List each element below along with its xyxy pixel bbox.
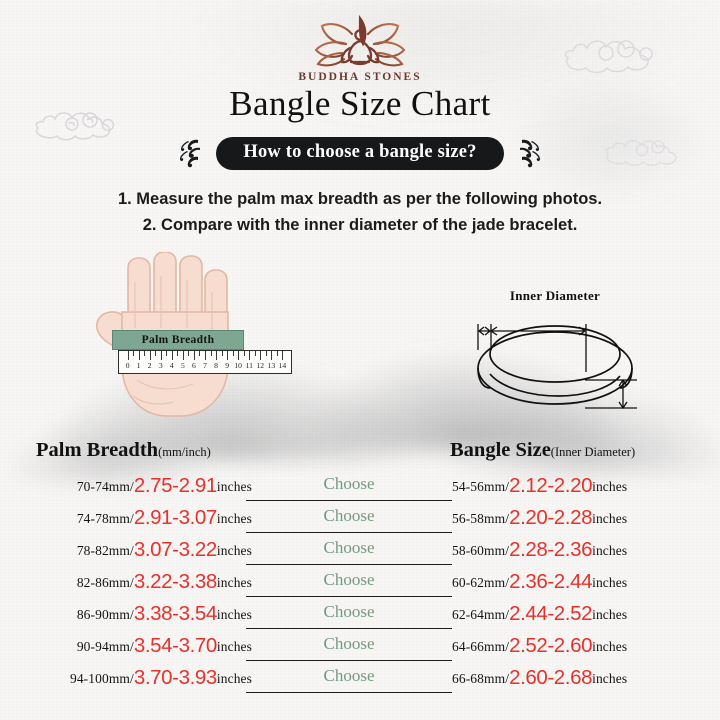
bangle-size-cell: 64-66mm/2.52-2.60inches xyxy=(452,634,627,658)
palm-mm-value: 90-94mm/ xyxy=(77,639,134,654)
choose-size-link[interactable]: Choose xyxy=(246,539,452,565)
illustration-band: Palm Breadth 01234567891011121314 Inner … xyxy=(0,252,720,424)
instruction-step-1: 1. Measure the palm max breadth as per t… xyxy=(0,186,720,212)
table-header-row: Palm Breadth(mm/inch) Bangle Size(Inner … xyxy=(0,428,720,462)
choose-label[interactable]: Choose xyxy=(246,602,452,622)
ruler-tick xyxy=(139,351,140,360)
palm-header-unit: (mm/inch) xyxy=(158,445,211,459)
ruler-tick-label: 1 xyxy=(137,361,141,370)
bangle-inch-value: 2.12-2.20 xyxy=(509,474,592,497)
ruler-tick xyxy=(260,351,261,360)
flourish-ornament-icon xyxy=(176,136,206,170)
ruler-measurement-group: Palm Breadth 01234567891011121314 xyxy=(112,330,292,370)
ruler-tick-minor xyxy=(199,351,200,356)
ruler-tick-label: 2 xyxy=(148,361,152,370)
bangle-inch-value: 2.44-2.52 xyxy=(509,602,592,625)
palm-breadth-cell: 82-86mm/3.22-3.38inches xyxy=(77,570,252,594)
ruler-tick-label: 0 xyxy=(126,361,130,370)
choose-label[interactable]: Choose xyxy=(246,538,452,558)
ruler-tick-minor xyxy=(144,351,145,356)
bangle-size-cell: 56-58mm/2.20-2.28inches xyxy=(452,506,627,530)
ruler-tick xyxy=(194,351,195,360)
palm-breadth-cell: 86-90mm/3.38-3.54inches xyxy=(77,602,252,626)
palm-inch-value: 2.75-2.91 xyxy=(134,474,217,497)
palm-mm-value: 70-74mm/ xyxy=(77,479,134,494)
ruler-tick-label: 7 xyxy=(203,361,207,370)
ruler-tick xyxy=(205,351,206,360)
choose-underline xyxy=(246,692,452,693)
choose-size-link[interactable]: Choose xyxy=(246,667,452,693)
ruler-tick-minor xyxy=(133,351,134,356)
bangle-inch-unit: inches xyxy=(592,671,627,686)
ruler-numbers: 01234567891011121314 xyxy=(119,360,291,374)
bangle-size-cell: 60-62mm/2.36-2.44inches xyxy=(452,570,627,594)
choose-underline xyxy=(246,532,452,533)
ruler-tick-minor xyxy=(155,351,156,356)
ruler-tick-minor xyxy=(188,351,189,356)
palm-inch-value: 3.22-3.38 xyxy=(134,570,217,593)
bangle-header-unit: (Inner Diameter) xyxy=(551,445,635,459)
palm-breadth-cell: 74-78mm/2.91-3.07inches xyxy=(77,506,252,530)
ruler-tick-minor xyxy=(177,351,178,356)
bangle-header-text: Bangle Size xyxy=(450,439,551,461)
bangle-inch-value: 2.36-2.44 xyxy=(509,570,592,593)
ruler-tick-label: 8 xyxy=(214,361,218,370)
table-row: 70-74mm/2.75-2.91inchesChoose54-56mm/2.1… xyxy=(0,472,720,504)
subtitle-pill: How to choose a bangle size? xyxy=(216,137,503,170)
table-row: 94-100mm/3.70-3.93inchesChoose66-68mm/2.… xyxy=(0,664,720,696)
palm-header-text: Palm Breadth xyxy=(36,439,158,461)
bangle-size-cell: 66-68mm/2.60-2.68inches xyxy=(452,666,627,690)
palm-inch-value: 3.07-3.22 xyxy=(134,538,217,561)
ruler-tick xyxy=(227,351,228,360)
inner-diameter-label: Inner Diameter xyxy=(455,288,655,304)
page-title: Bangle Size Chart xyxy=(0,84,720,124)
bangle-inch-value: 2.52-2.60 xyxy=(509,634,592,657)
ruler-tick-label: 9 xyxy=(225,361,229,370)
palm-breadth-cell: 70-74mm/2.75-2.91inches xyxy=(77,474,252,498)
palm-breadth-label: Palm Breadth xyxy=(142,334,215,346)
palm-breadth-cell: 94-100mm/3.70-3.93inches xyxy=(70,666,252,690)
choose-size-link[interactable]: Choose xyxy=(246,571,452,597)
ruler-icon: 01234567891011121314 xyxy=(118,350,292,374)
choose-label[interactable]: Choose xyxy=(246,634,452,654)
bangle-inch-unit: inches xyxy=(592,543,627,558)
choose-size-link[interactable]: Choose xyxy=(246,603,452,629)
bangle-inch-value: 2.20-2.28 xyxy=(509,506,592,529)
bangle-inch-value: 2.28-2.36 xyxy=(509,538,592,561)
ruler-tick xyxy=(238,351,239,360)
flourish-ornament-icon xyxy=(514,136,544,170)
ruler-tick xyxy=(216,351,217,360)
ruler-tick-minor xyxy=(211,351,212,356)
table-row: 74-78mm/2.91-3.07inchesChoose56-58mm/2.2… xyxy=(0,504,720,536)
table-row: 90-94mm/3.54-3.70inchesChoose64-66mm/2.5… xyxy=(0,632,720,664)
bangle-mm-value: 58-60mm/ xyxy=(452,543,509,558)
ruler-tick-minor xyxy=(255,351,256,356)
ruler-tick xyxy=(183,351,184,360)
ruler-tick-label: 5 xyxy=(181,361,185,370)
palm-mm-value: 86-90mm/ xyxy=(77,607,134,622)
ruler-tick xyxy=(271,351,272,360)
table-row: 82-86mm/3.22-3.38inchesChoose60-62mm/2.3… xyxy=(0,568,720,600)
ruler-tick-label: 14 xyxy=(279,361,287,370)
choose-size-link[interactable]: Choose xyxy=(246,635,452,661)
palm-mm-value: 74-78mm/ xyxy=(77,511,134,526)
ruler-tick xyxy=(249,351,250,360)
palm-breadth-cell: 78-82mm/3.07-3.22inches xyxy=(77,538,252,562)
choose-label[interactable]: Choose xyxy=(246,474,452,494)
column-header-bangle-size: Bangle Size(Inner Diameter) xyxy=(450,439,635,462)
ruler-tick xyxy=(150,351,151,360)
ruler-tick xyxy=(161,351,162,360)
choose-underline xyxy=(246,564,452,565)
ruler-tick-label: 10 xyxy=(234,361,242,370)
palm-mm-value: 82-86mm/ xyxy=(77,575,134,590)
table-row: 78-82mm/3.07-3.22inchesChoose58-60mm/2.2… xyxy=(0,536,720,568)
palm-mm-value: 78-82mm/ xyxy=(77,543,134,558)
ruler-tick-label: 4 xyxy=(170,361,174,370)
brand-wordmark: BUDDHA STONES xyxy=(0,71,720,83)
bangle-ring-icon xyxy=(455,306,655,416)
bangle-inch-unit: inches xyxy=(592,575,627,590)
bangle-mm-value: 66-68mm/ xyxy=(452,671,509,686)
subtitle-row: How to choose a bangle size? xyxy=(0,136,720,170)
ruler-tick-label: 6 xyxy=(192,361,196,370)
bangle-mm-value: 64-66mm/ xyxy=(452,639,509,654)
choose-underline xyxy=(246,500,452,501)
bangle-inch-unit: inches xyxy=(592,607,627,622)
instruction-step-2: 2. Compare with the inner diameter of th… xyxy=(0,212,720,238)
ruler-tick-label: 11 xyxy=(246,361,253,370)
ruler-tick xyxy=(128,351,129,360)
choose-label[interactable]: Choose xyxy=(246,666,452,686)
choose-size-link[interactable]: Choose xyxy=(246,475,452,501)
choose-underline xyxy=(246,628,452,629)
palm-mm-value: 94-100mm/ xyxy=(70,671,134,686)
ruler-tick-label: 13 xyxy=(268,361,276,370)
lotus-meditation-icon xyxy=(300,8,420,70)
ruler-ticks xyxy=(119,351,291,360)
palm-inch-value: 3.38-3.54 xyxy=(134,602,217,625)
ruler-tick xyxy=(172,351,173,360)
ruler-tick-minor xyxy=(233,351,234,356)
choose-underline xyxy=(246,596,452,597)
choose-label[interactable]: Choose xyxy=(246,506,452,526)
ruler-tick-minor xyxy=(277,351,278,356)
palm-inch-value: 3.70-3.93 xyxy=(134,666,217,689)
instructions-list: 1. Measure the palm max breadth as per t… xyxy=(0,186,720,238)
ruler-tick-minor xyxy=(166,351,167,356)
bangle-mm-value: 54-56mm/ xyxy=(452,479,509,494)
bangle-mm-value: 60-62mm/ xyxy=(452,575,509,590)
ruler-tick-minor xyxy=(244,351,245,356)
bangle-size-cell: 62-64mm/2.44-2.52inches xyxy=(452,602,627,626)
choose-label[interactable]: Choose xyxy=(246,570,452,590)
bangle-inch-unit: inches xyxy=(592,479,627,494)
palm-breadth-cell: 90-94mm/3.54-3.70inches xyxy=(77,634,252,658)
bangle-diagram: Inner Diameter xyxy=(455,288,655,416)
bangle-size-cell: 54-56mm/2.12-2.20inches xyxy=(452,474,627,498)
column-header-palm-breadth: Palm Breadth(mm/inch) xyxy=(36,439,211,462)
ruler-tick-minor xyxy=(222,351,223,356)
ruler-tick-minor xyxy=(266,351,267,356)
bangle-inch-value: 2.60-2.68 xyxy=(509,666,592,689)
choose-size-link[interactable]: Choose xyxy=(246,507,452,533)
palm-inch-value: 2.91-3.07 xyxy=(134,506,217,529)
ruler-tick-label: 3 xyxy=(159,361,163,370)
bangle-size-cell: 58-60mm/2.28-2.36inches xyxy=(452,538,627,562)
size-table: Palm Breadth(mm/inch) Bangle Size(Inner … xyxy=(0,428,720,696)
palm-breadth-band: Palm Breadth xyxy=(112,330,244,350)
bangle-mm-value: 62-64mm/ xyxy=(452,607,509,622)
choose-underline xyxy=(246,660,452,661)
table-row: 86-90mm/3.38-3.54inchesChoose62-64mm/2.4… xyxy=(0,600,720,632)
brand-logo: BUDDHA STONES xyxy=(0,8,720,83)
bangle-inch-unit: inches xyxy=(592,511,627,526)
ruler-tick-label: 12 xyxy=(256,361,264,370)
table-body: 70-74mm/2.75-2.91inchesChoose54-56mm/2.1… xyxy=(0,472,720,696)
bangle-inch-unit: inches xyxy=(592,639,627,654)
ruler-tick xyxy=(282,351,283,360)
palm-inch-value: 3.54-3.70 xyxy=(134,634,217,657)
bangle-mm-value: 56-58mm/ xyxy=(452,511,509,526)
